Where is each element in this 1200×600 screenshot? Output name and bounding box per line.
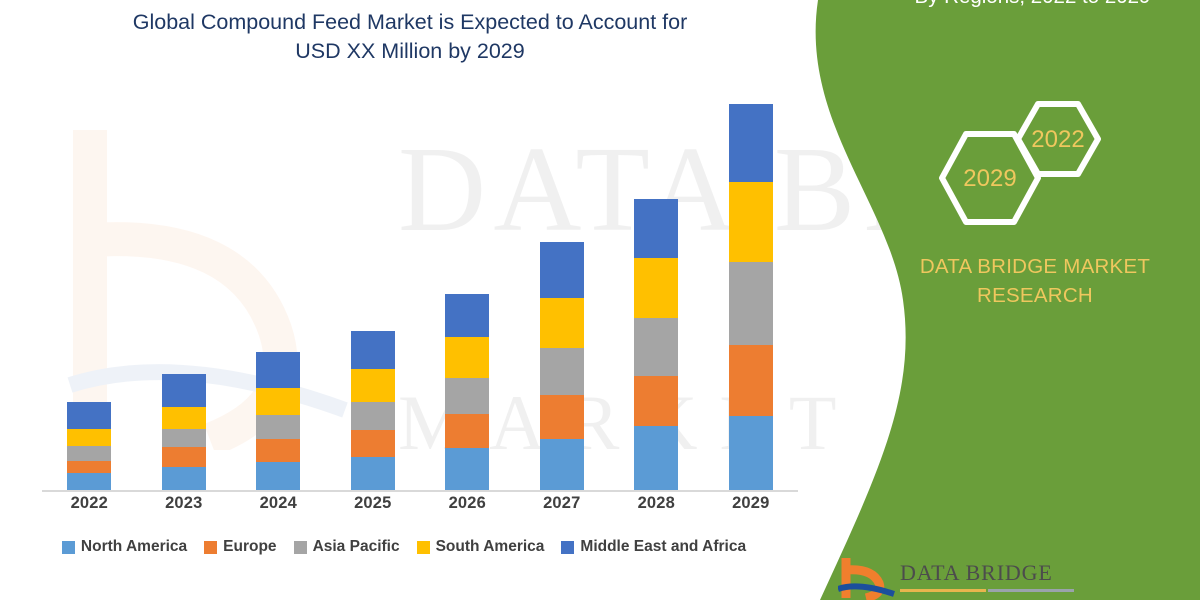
legend-label: Middle East and Africa (580, 538, 746, 556)
bar-group (42, 104, 798, 490)
x-axis-label-2028: 2028 (609, 494, 703, 513)
bar-segment (256, 415, 300, 440)
x-axis-line (42, 490, 798, 492)
legend-label: South America (436, 538, 545, 556)
chart-title-line-1: Global Compound Feed Market is Expected … (60, 8, 760, 37)
bar-segment (256, 352, 300, 388)
legend-item-europe[interactable]: Europe (204, 538, 276, 556)
legend-swatch-icon (204, 541, 217, 554)
x-axis-label-2026: 2026 (420, 494, 514, 513)
bar-segment (67, 461, 111, 473)
bar-segment (445, 448, 489, 490)
bar-segment (729, 182, 773, 262)
bar-segment (162, 374, 206, 407)
bar-segment (351, 430, 395, 457)
panel-heading-line-1: By Regions, 2022 to 2029 (865, 0, 1200, 10)
x-axis-label-2024: 2024 (231, 494, 325, 513)
legend-item-north-america[interactable]: North America (62, 538, 187, 556)
legend-item-asia-pacific[interactable]: Asia Pacific (294, 538, 400, 556)
logo-rule-left (900, 589, 986, 592)
stacked-bar (445, 294, 489, 490)
bar-segment (729, 262, 773, 344)
x-axis-label-2027: 2027 (515, 494, 609, 513)
bar-segment (729, 104, 773, 183)
stacked-bar (67, 402, 111, 490)
x-axis-label-2023: 2023 (137, 494, 231, 513)
legend-swatch-icon (561, 541, 574, 554)
bar-column-2026 (420, 104, 514, 490)
infographic-canvas: DATA BRIDGE MARKET RESEARCH Global Compo… (0, 0, 1200, 600)
bar-column-2029 (704, 104, 798, 490)
legend-item-south-america[interactable]: South America (417, 538, 545, 556)
bar-segment (67, 473, 111, 490)
bar-segment (162, 447, 206, 467)
chart-title: Global Compound Feed Market is Expected … (60, 8, 760, 66)
bar-column-2024 (231, 104, 325, 490)
stacked-bar (256, 352, 300, 490)
bar-segment (729, 345, 773, 416)
bar-segment (540, 242, 584, 298)
legend-swatch-icon (62, 541, 75, 554)
stacked-bar (351, 331, 395, 490)
logo-rule-right (988, 589, 1074, 592)
bar-column-2023 (137, 104, 231, 490)
bar-segment (540, 395, 584, 438)
bar-segment (729, 416, 773, 490)
bar-segment (445, 294, 489, 337)
bar-segment (351, 457, 395, 490)
stacked-bar (540, 242, 584, 490)
legend-label: North America (81, 538, 187, 556)
stacked-bar (729, 104, 773, 490)
bar-segment (634, 426, 678, 490)
x-axis-label-2025: 2025 (326, 494, 420, 513)
bar-segment (540, 298, 584, 348)
bar-segment (256, 439, 300, 461)
chart-title-line-2: USD XX Million by 2029 (60, 37, 760, 66)
bar-segment (67, 429, 111, 446)
bar-segment (634, 199, 678, 258)
x-axis-labels: 20222023202420252026202720282029 (42, 494, 798, 513)
bar-segment (67, 446, 111, 461)
bar-segment (67, 402, 111, 428)
bar-segment (256, 388, 300, 415)
bar-segment (634, 258, 678, 318)
legend-label: Asia Pacific (313, 538, 400, 556)
stacked-bar (634, 199, 678, 490)
bar-segment (634, 318, 678, 376)
bar-segment (540, 348, 584, 395)
bar-segment (256, 462, 300, 490)
logo-mark-icon (838, 556, 896, 600)
data-bridge-logo: DATA BRIDGE (838, 556, 1098, 600)
bar-segment (445, 337, 489, 378)
stacked-bar (162, 374, 206, 490)
chart-legend: North AmericaEuropeAsia PacificSouth Ame… (0, 538, 808, 556)
panel-brand-line-2: RESEARCH (880, 281, 1190, 310)
legend-swatch-icon (294, 541, 307, 554)
bar-column-2027 (515, 104, 609, 490)
bar-segment (634, 376, 678, 426)
x-axis-label-2022: 2022 (42, 494, 136, 513)
legend-item-middle-east-and-africa[interactable]: Middle East and Africa (561, 538, 746, 556)
panel-heading: By Regions, 2022 to 2029 (865, 0, 1200, 10)
bar-segment (351, 369, 395, 402)
bar-segment (351, 331, 395, 369)
bar-segment (540, 439, 584, 490)
legend-label: Europe (223, 538, 276, 556)
bar-column-2028 (609, 104, 703, 490)
panel-brand-text: DATA BRIDGE MARKET RESEARCH (880, 252, 1190, 310)
bar-segment (162, 429, 206, 447)
x-axis-label-2029: 2029 (704, 494, 798, 513)
bar-segment (445, 414, 489, 447)
bar-segment (351, 402, 395, 430)
bar-column-2022 (42, 104, 136, 490)
bar-segment (162, 467, 206, 490)
logo-wordmark: DATA BRIDGE (900, 560, 1053, 586)
bar-segment (445, 378, 489, 414)
legend-swatch-icon (417, 541, 430, 554)
bar-column-2025 (326, 104, 420, 490)
chart-plot-area: 20222023202420252026202720282029 (0, 100, 810, 492)
bar-segment (162, 407, 206, 428)
